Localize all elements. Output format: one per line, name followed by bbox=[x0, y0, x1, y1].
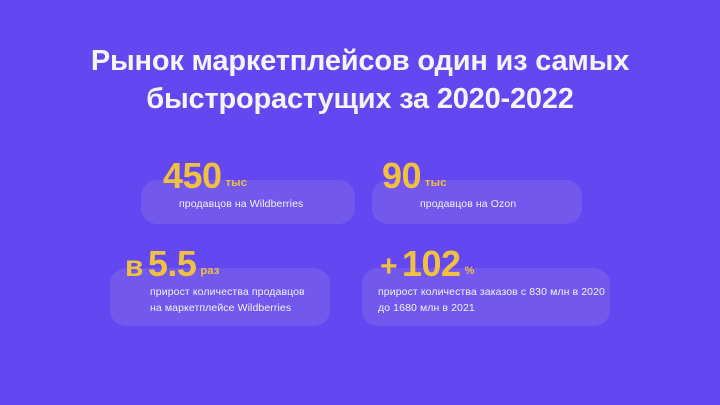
stat-desc-line: до 1680 млн в 2021 bbox=[378, 300, 610, 316]
stat-headline-ozon-sellers: 90тыс bbox=[382, 158, 582, 194]
title-line-1: Рынок маркетплейсов один из самых bbox=[40, 42, 680, 80]
stat-number-wb-sellers: 450 bbox=[163, 155, 222, 196]
stat-number-ozon-sellers: 90 bbox=[382, 155, 421, 196]
stat-block-wb-growth: в 5.5раз прирост количества продавцов на… bbox=[110, 246, 330, 326]
stat-block-order-growth: + 102% прирост количества заказов с 830 … bbox=[362, 246, 610, 326]
stat-desc-line: на маркетплейсе Wildberries bbox=[150, 300, 330, 316]
stat-prefix-order-growth: + bbox=[380, 250, 398, 283]
stat-desc-line: прирост количества заказов с 830 млн в 2… bbox=[378, 284, 610, 300]
stat-unit-order-growth: % bbox=[465, 265, 475, 277]
stat-number-order-growth: 102 bbox=[402, 243, 461, 284]
stat-unit-ozon-sellers: тыс bbox=[425, 177, 447, 189]
stat-headline-wb-sellers: 450тыс bbox=[163, 158, 355, 194]
stat-desc-line: прирост количества продавцов bbox=[150, 284, 330, 300]
title-line-2: быстрорастущих за 2020-2022 bbox=[40, 80, 680, 118]
stat-block-ozon-sellers: 90тыс продавцов на Ozon bbox=[372, 158, 582, 224]
stat-block-wb-sellers: 450тыс продавцов на Wildberries bbox=[141, 158, 355, 224]
stat-unit-wb-sellers: тыс bbox=[226, 177, 248, 189]
stat-unit-wb-growth: раз bbox=[200, 265, 219, 277]
page-title: Рынок маркетплейсов один из самых быстро… bbox=[0, 42, 720, 118]
stat-desc-line: продавцов на Wildberries bbox=[179, 196, 355, 212]
stat-desc-line: продавцов на Ozon bbox=[420, 196, 582, 212]
slide-canvas: Рынок маркетплейсов один из самых быстро… bbox=[0, 0, 720, 405]
stat-headline-wb-growth: в 5.5раз bbox=[125, 246, 330, 282]
stat-prefix-wb-growth: в bbox=[125, 250, 143, 283]
stat-number-wb-growth: 5.5 bbox=[148, 243, 197, 284]
stat-headline-order-growth: + 102% bbox=[380, 246, 610, 282]
